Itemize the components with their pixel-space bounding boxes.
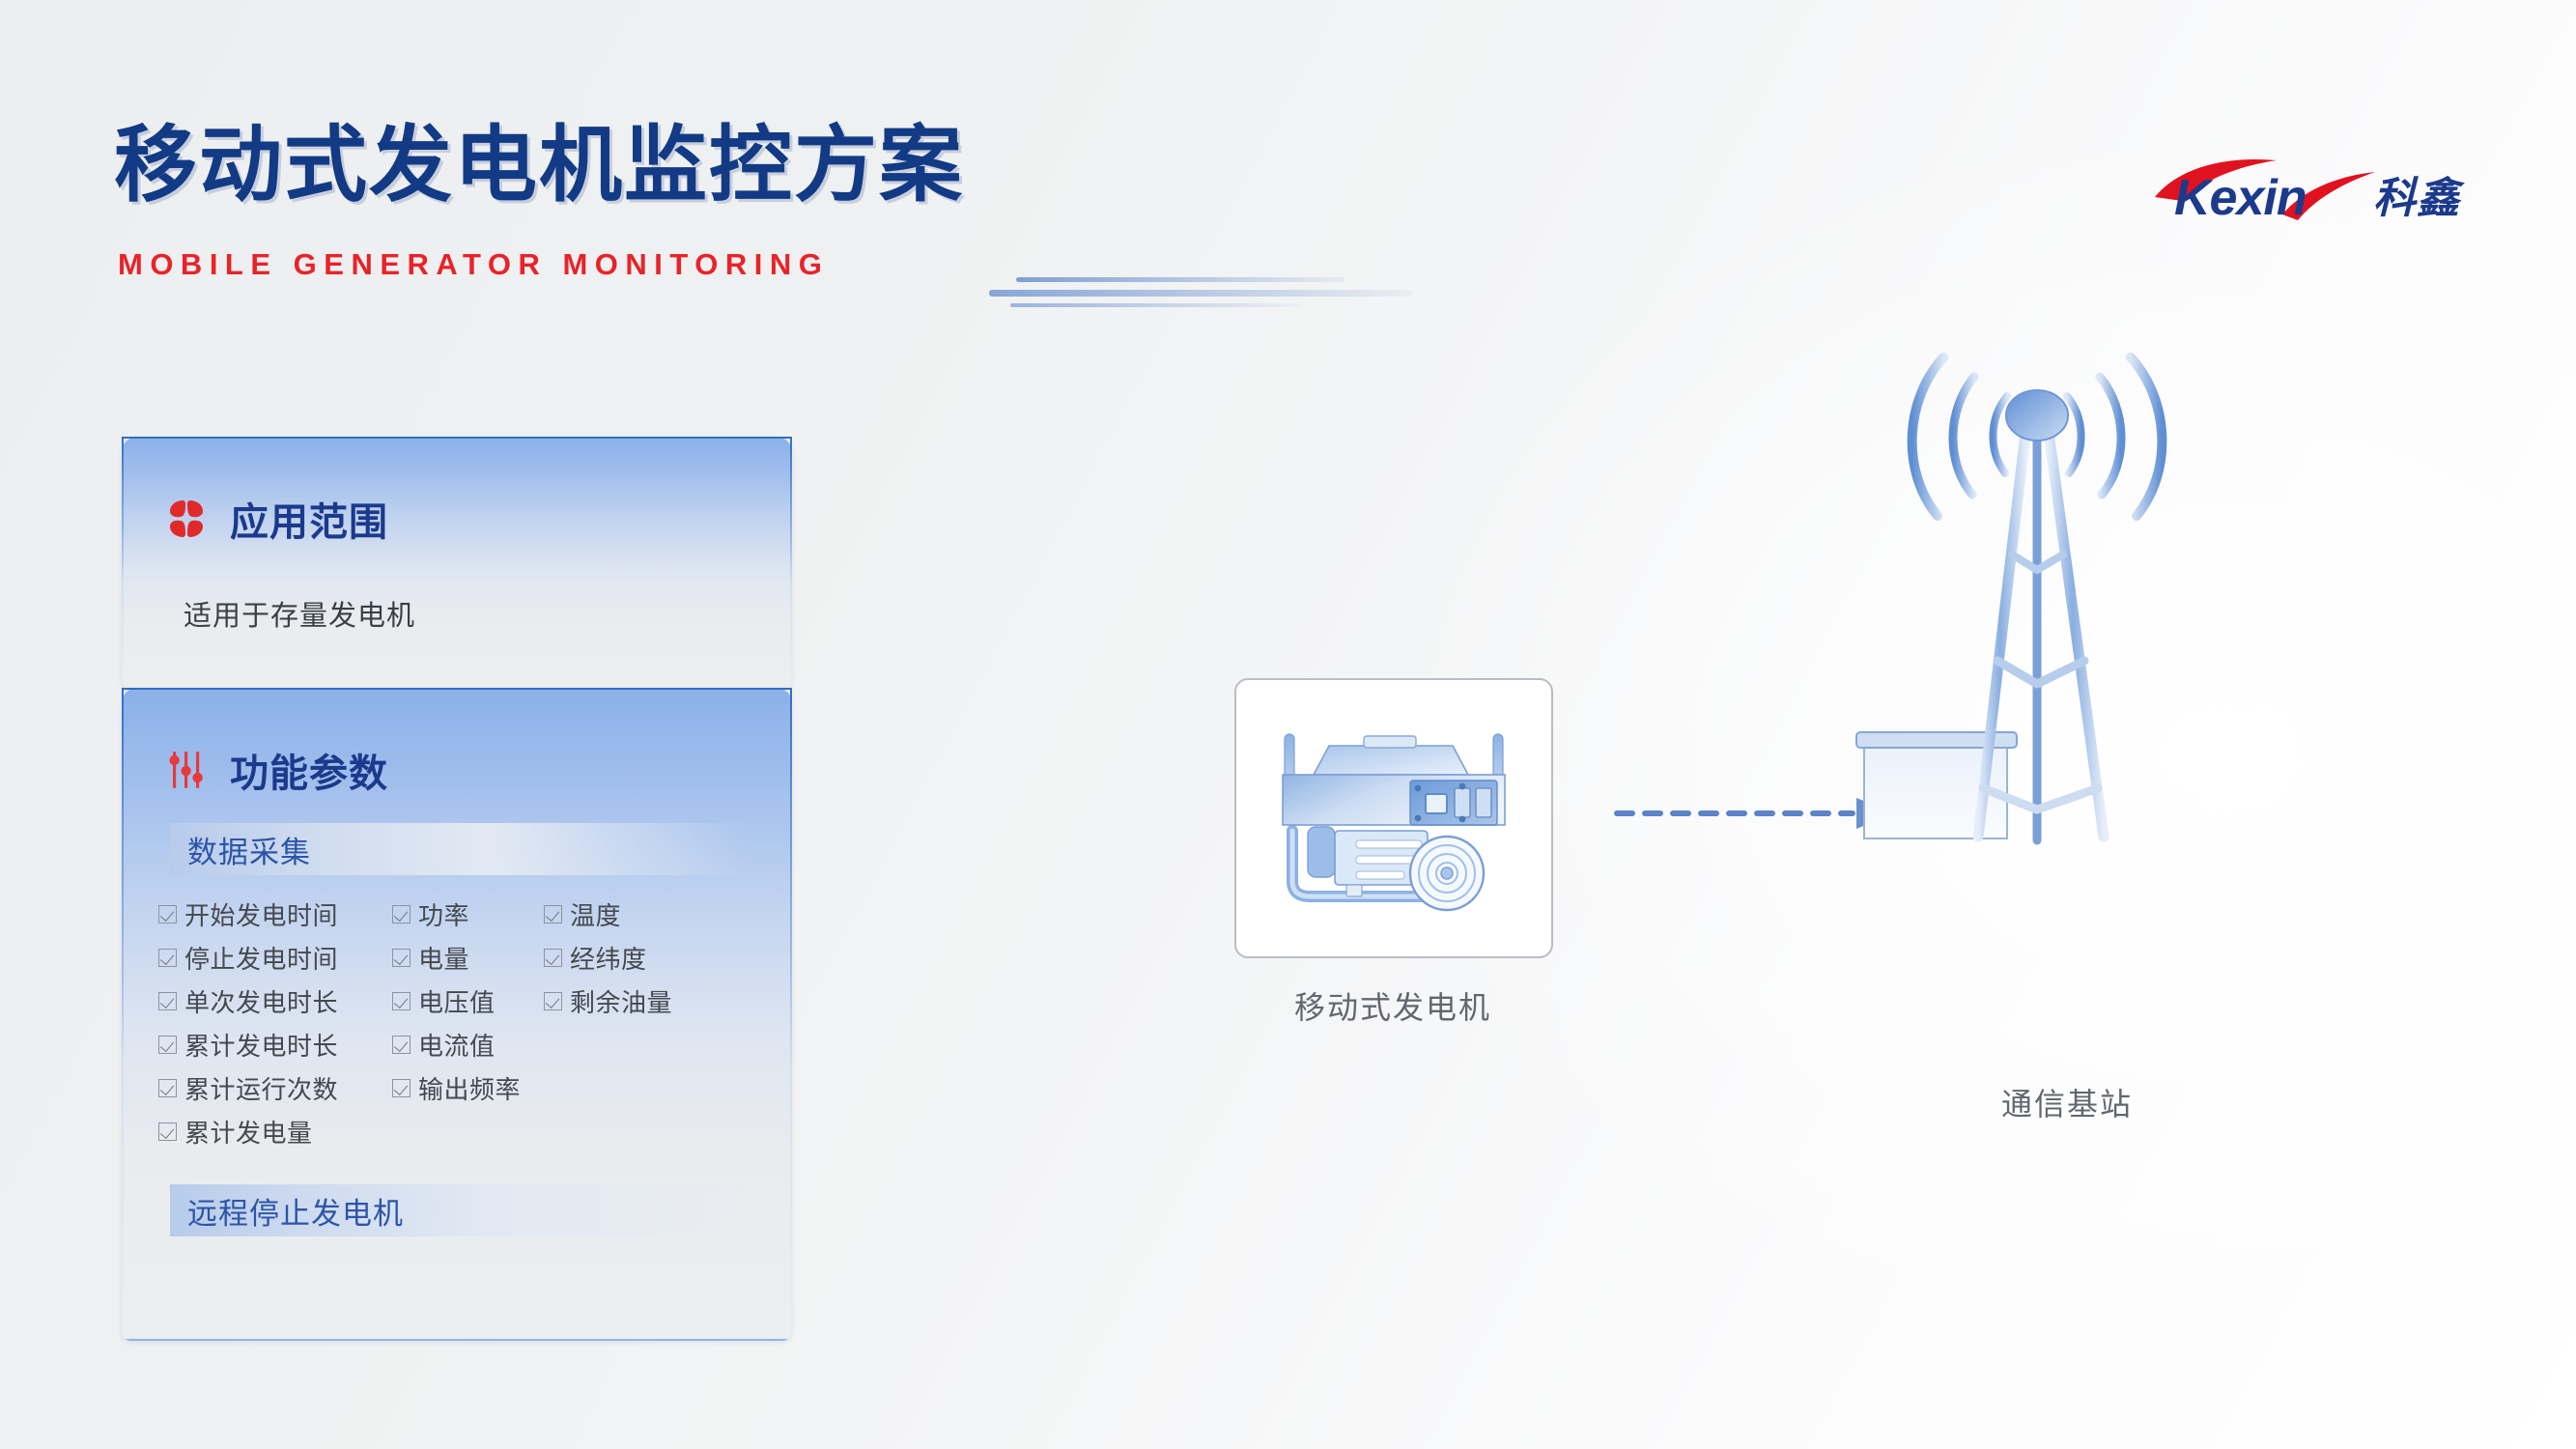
checkbox-column-3: 温度 经纬度 剩余油量 [544,893,737,1153]
logo-wordmark-cn: 科鑫 [2373,175,2466,222]
section-label-data-collection: 数据采集 [170,828,311,871]
checkbox-label: 输出频率 [418,1070,521,1106]
parameter-checkbox-grid: 开始发电时间 停止发电时间 单次发电时长 累计发电时长 [158,893,767,1153]
slide-canvas: 移动式发电机监控方案 MOBILE GENERATOR MONITORING K… [0,0,2576,1449]
page-title: 移动式发电机监控方案 [114,124,964,207]
checkbox-icon[interactable] [392,992,410,1010]
decorative-rule-3 [1010,303,1300,307]
checkbox-label: 经纬度 [570,940,647,976]
checkbox-icon[interactable] [158,1079,177,1097]
checkbox-icon[interactable] [544,949,562,967]
checkbox-item[interactable]: 电流值 [392,1023,544,1066]
checkbox-item[interactable]: 单次发电时长 [158,980,392,1023]
four-petal-flower-icon [164,497,209,541]
checkbox-item[interactable]: 电压值 [392,980,544,1023]
checkbox-label: 开始发电时间 [184,896,338,932]
checkbox-icon[interactable] [392,949,410,967]
checkbox-icon[interactable] [392,1079,410,1097]
checkbox-item[interactable]: 功率 [392,893,544,936]
checkbox-item[interactable]: 开始发电时间 [158,893,392,936]
mobile-generator-icon [1263,717,1528,924]
checkbox-label: 累计发电量 [184,1114,313,1150]
sliders-icon [164,748,209,792]
logo-wordmark-kexin: Kexin [2174,170,2307,226]
checkbox-label: 温度 [570,896,621,932]
page-subtitle: MOBILE GENERATOR MONITORING [118,247,829,282]
card-function-parameters: 功能参数 数据采集 开始发电时间 停止发电时间 单次 [122,688,792,1341]
checkbox-label: 电压值 [418,983,495,1019]
decorative-rule-2 [989,290,1412,297]
checkbox-icon[interactable] [158,1122,177,1141]
checkbox-label: 功率 [418,896,469,932]
brand-logo: Kexin 科鑫 [2149,155,2468,230]
decorative-rule-1 [1016,277,1345,282]
subtitle-decorative-rules [989,277,1443,310]
checkbox-icon[interactable] [158,1036,177,1054]
checkbox-label: 累计发电时长 [184,1027,338,1063]
logo-svg: Kexin 科鑫 [2149,155,2468,230]
checkbox-label: 剩余油量 [570,983,672,1019]
checkbox-item[interactable]: 累计发电时长 [158,1023,392,1066]
generator-image-card [1234,678,1553,958]
checkbox-icon[interactable] [392,905,410,923]
card-application-scope: 应用范围 适用于存量发电机 [122,437,792,690]
checkbox-item[interactable]: 输出频率 [392,1066,544,1110]
checkbox-item[interactable]: 剩余油量 [544,980,737,1023]
checkbox-icon[interactable] [544,992,562,1010]
section-label-remote-stop: 远程停止发电机 [170,1189,404,1233]
section-band-remote-stop: 远程停止发电机 [170,1184,750,1236]
checkbox-label: 累计运行次数 [184,1070,338,1106]
checkbox-icon[interactable] [158,992,177,1010]
checkbox-item[interactable]: 温度 [544,893,737,936]
checkbox-column-1: 开始发电时间 停止发电时间 单次发电时长 累计发电时长 [158,893,392,1153]
checkbox-icon[interactable] [158,949,177,967]
card-scope-header: 应用范围 [164,491,388,547]
card-params-title: 功能参数 [230,742,388,798]
checkbox-icon[interactable] [392,1036,410,1054]
checkbox-label: 电流值 [418,1027,495,1063]
cell-tower-icon [1854,307,2279,906]
generator-label: 移动式发电机 [1188,983,1598,1028]
card-params-header: 功能参数 [164,742,388,798]
checkbox-label: 停止发电时间 [184,940,338,976]
tower-label: 通信基站 [1864,1080,2270,1124]
svg-text:Kexin: Kexin [2174,170,2307,226]
checkbox-item[interactable]: 电量 [392,936,544,980]
checkbox-item[interactable]: 经纬度 [544,936,737,980]
checkbox-column-2: 功率 电量 电压值 电流值 [392,893,544,1153]
architecture-diagram: 移动式发电机 [1188,493,2444,1159]
card-scope-body-text: 适用于存量发电机 [184,593,415,634]
checkbox-item[interactable]: 停止发电时间 [158,936,392,980]
checkbox-icon[interactable] [158,905,177,923]
svg-text:科鑫: 科鑫 [2373,175,2466,222]
checkbox-label: 电量 [418,940,469,976]
checkbox-label: 单次发电时长 [184,983,338,1019]
checkbox-item[interactable]: 累计发电量 [158,1110,392,1153]
checkbox-icon[interactable] [544,905,562,923]
section-band-data-collection: 数据采集 [170,823,750,875]
checkbox-item[interactable]: 累计运行次数 [158,1066,392,1110]
card-scope-title: 应用范围 [230,491,388,547]
